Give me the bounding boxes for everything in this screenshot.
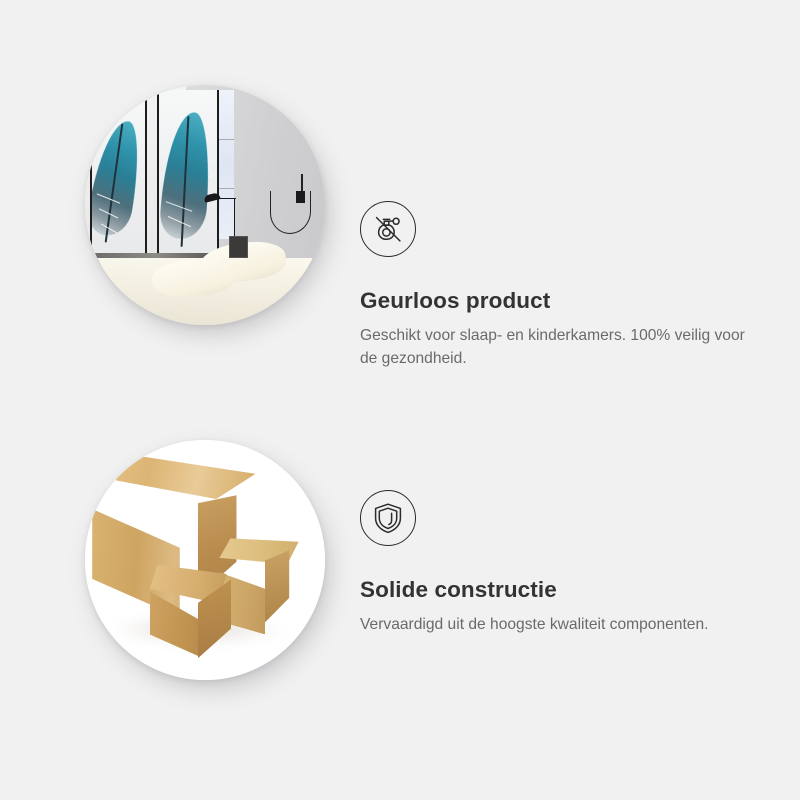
bedroom-feather-triptych-photo — [85, 85, 325, 325]
feature-description: Vervaardigd uit de hoogste kwaliteit com… — [360, 613, 750, 636]
feature-content-solid-construction: Solide constructie Vervaardigd uit de ho… — [360, 490, 760, 636]
circular-image-frame — [85, 85, 325, 325]
feature-image-solid-construction — [85, 440, 329, 690]
wooden-blocks-photo — [85, 440, 325, 680]
feature-content-odourless: Geurloos product Geschikt voor slaap- en… — [360, 201, 760, 370]
feature-title: Geurloos product — [360, 287, 760, 315]
product-feature-page: Geurloos product Geschikt voor slaap- en… — [0, 0, 800, 800]
art-panel-left — [90, 90, 148, 277]
picture-frame-shape — [229, 236, 248, 258]
feature-title: Solide constructie — [360, 576, 760, 604]
no-fragrance-icon — [360, 201, 416, 257]
feature-row-odourless: Geurloos product Geschikt voor slaap- en… — [0, 75, 800, 405]
circular-image-frame — [85, 440, 325, 680]
art-panel-center — [157, 90, 219, 277]
feature-description: Geschikt voor slaap- en kinderkamers. 10… — [360, 324, 750, 370]
shield-icon — [360, 490, 416, 546]
feature-image-odourless — [85, 85, 329, 335]
feature-row-solid-construction: Solide constructie Vervaardigd uit de ho… — [0, 430, 800, 760]
